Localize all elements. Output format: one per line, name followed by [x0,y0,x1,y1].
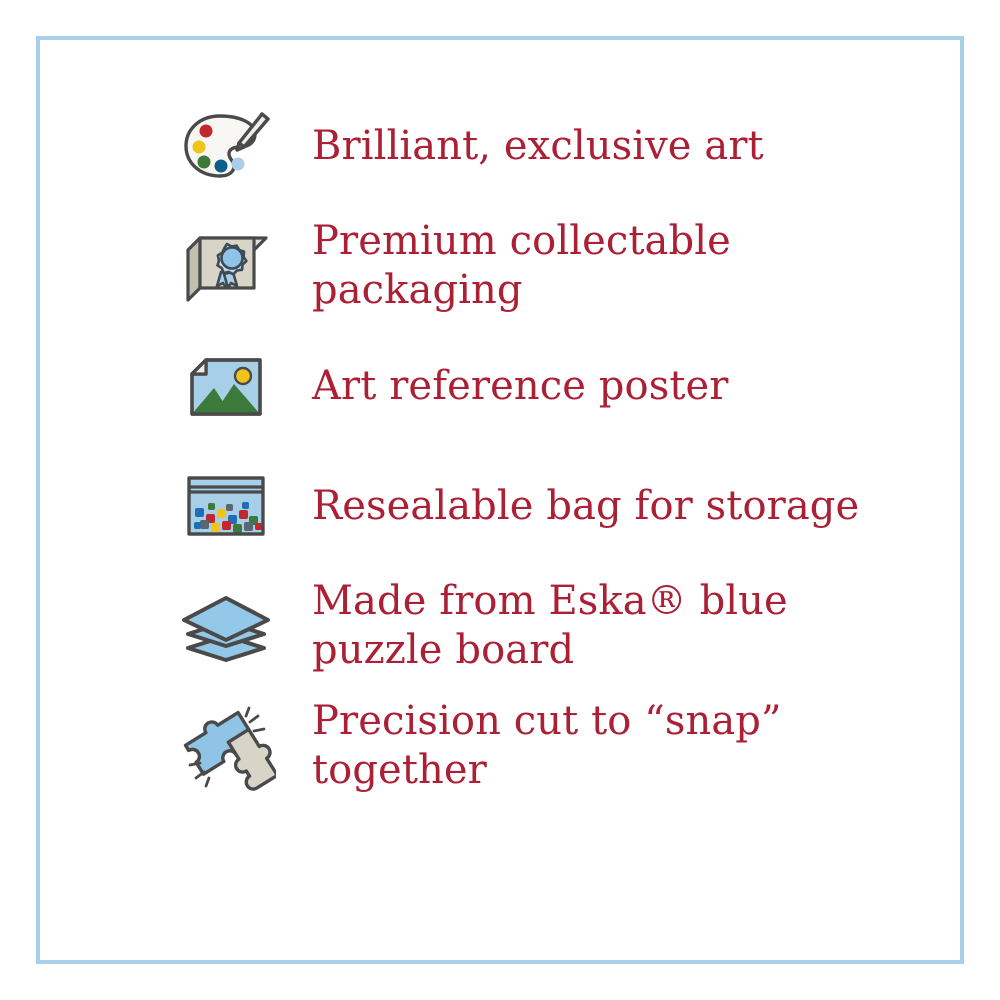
feature-label: Premium collectable packaging [312,217,731,315]
feature-label-cell: Made from Eska® blue puzzle board [276,576,876,676]
feature-label-cell: Art reference poster [276,336,876,436]
stacked-board-icon [176,576,276,676]
feature-label-cell: Brilliant, exclusive art [276,96,876,196]
list-item: Resealable bag for storage [176,456,876,576]
resealable-bag-icon [176,456,276,556]
feature-label-cell: Precision cut to “snap” together [276,696,876,796]
feature-label: Brilliant, exclusive art [312,122,764,171]
feature-label: Art reference poster [312,362,729,411]
feature-label-cell: Premium collectable packaging [276,216,876,316]
list-item: Brilliant, exclusive art [176,96,876,216]
puzzle-pieces-snap-icon [176,696,276,796]
feature-list: Brilliant, exclusive art [176,96,876,816]
poster-image-icon [176,336,276,436]
award-box-icon [176,216,276,316]
list-item: Precision cut to “snap” together [176,696,876,816]
feature-label: Precision cut to “snap” together [312,697,782,795]
feature-poster: Brilliant, exclusive art [0,0,1000,1000]
feature-label-cell: Resealable bag for storage [276,456,876,556]
list-item: Made from Eska® blue puzzle board [176,576,876,696]
list-item: Art reference poster [176,336,876,456]
paint-palette-icon [176,96,276,196]
feature-label: Made from Eska® blue puzzle board [312,577,788,675]
list-item: Premium collectable packaging [176,216,876,336]
feature-label: Resealable bag for storage [312,482,859,531]
